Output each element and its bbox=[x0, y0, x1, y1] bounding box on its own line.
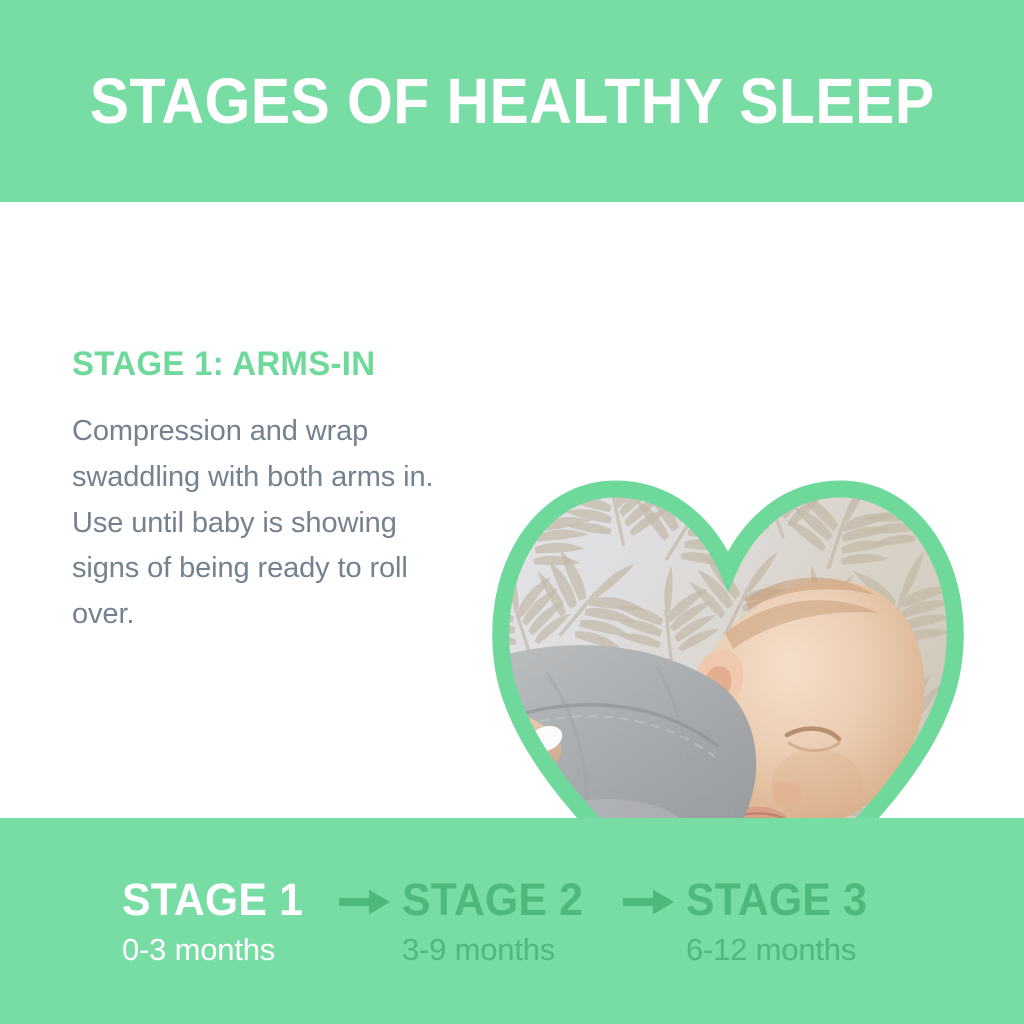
stage-text-column: STAGE 1: ARMS-IN Compression and wrap sw… bbox=[72, 347, 472, 638]
stage-step-2-name: STAGE 2 bbox=[402, 877, 583, 922]
stage-step-1[interactable]: STAGE 1 0-3 months bbox=[122, 877, 328, 965]
stage-step-3-name: STAGE 3 bbox=[686, 877, 867, 922]
footer-band: STAGE 1 0-3 months STAGE 2 3-9 months ST… bbox=[0, 818, 1024, 1024]
stage-progression: STAGE 1 0-3 months STAGE 2 3-9 months ST… bbox=[0, 818, 1024, 1024]
stage-step-2[interactable]: STAGE 2 3-9 months bbox=[402, 877, 612, 965]
stage-step-3[interactable]: STAGE 3 6-12 months bbox=[686, 877, 908, 965]
main-content: STAGE 1: ARMS-IN Compression and wrap sw… bbox=[0, 202, 1024, 818]
arrow-right-icon-1 bbox=[328, 887, 402, 917]
arrow-right-icon-2 bbox=[612, 887, 686, 917]
stage-step-1-name: STAGE 1 bbox=[122, 877, 303, 922]
page-title: STAGES OF HEALTHY SLEEP bbox=[90, 69, 935, 133]
header-band: STAGES OF HEALTHY SLEEP bbox=[0, 0, 1024, 202]
stage-description: Compression and wrap swaddling with both… bbox=[72, 409, 452, 638]
stage-step-2-months: 3-9 months bbox=[402, 934, 555, 965]
stage-step-1-months: 0-3 months bbox=[122, 934, 275, 965]
stage-heading: STAGE 1: ARMS-IN bbox=[72, 347, 460, 381]
infographic-root: STAGES OF HEALTHY SLEEP STAGE 1: ARMS-IN… bbox=[0, 0, 1024, 1024]
stage-step-3-months: 6-12 months bbox=[686, 934, 856, 965]
